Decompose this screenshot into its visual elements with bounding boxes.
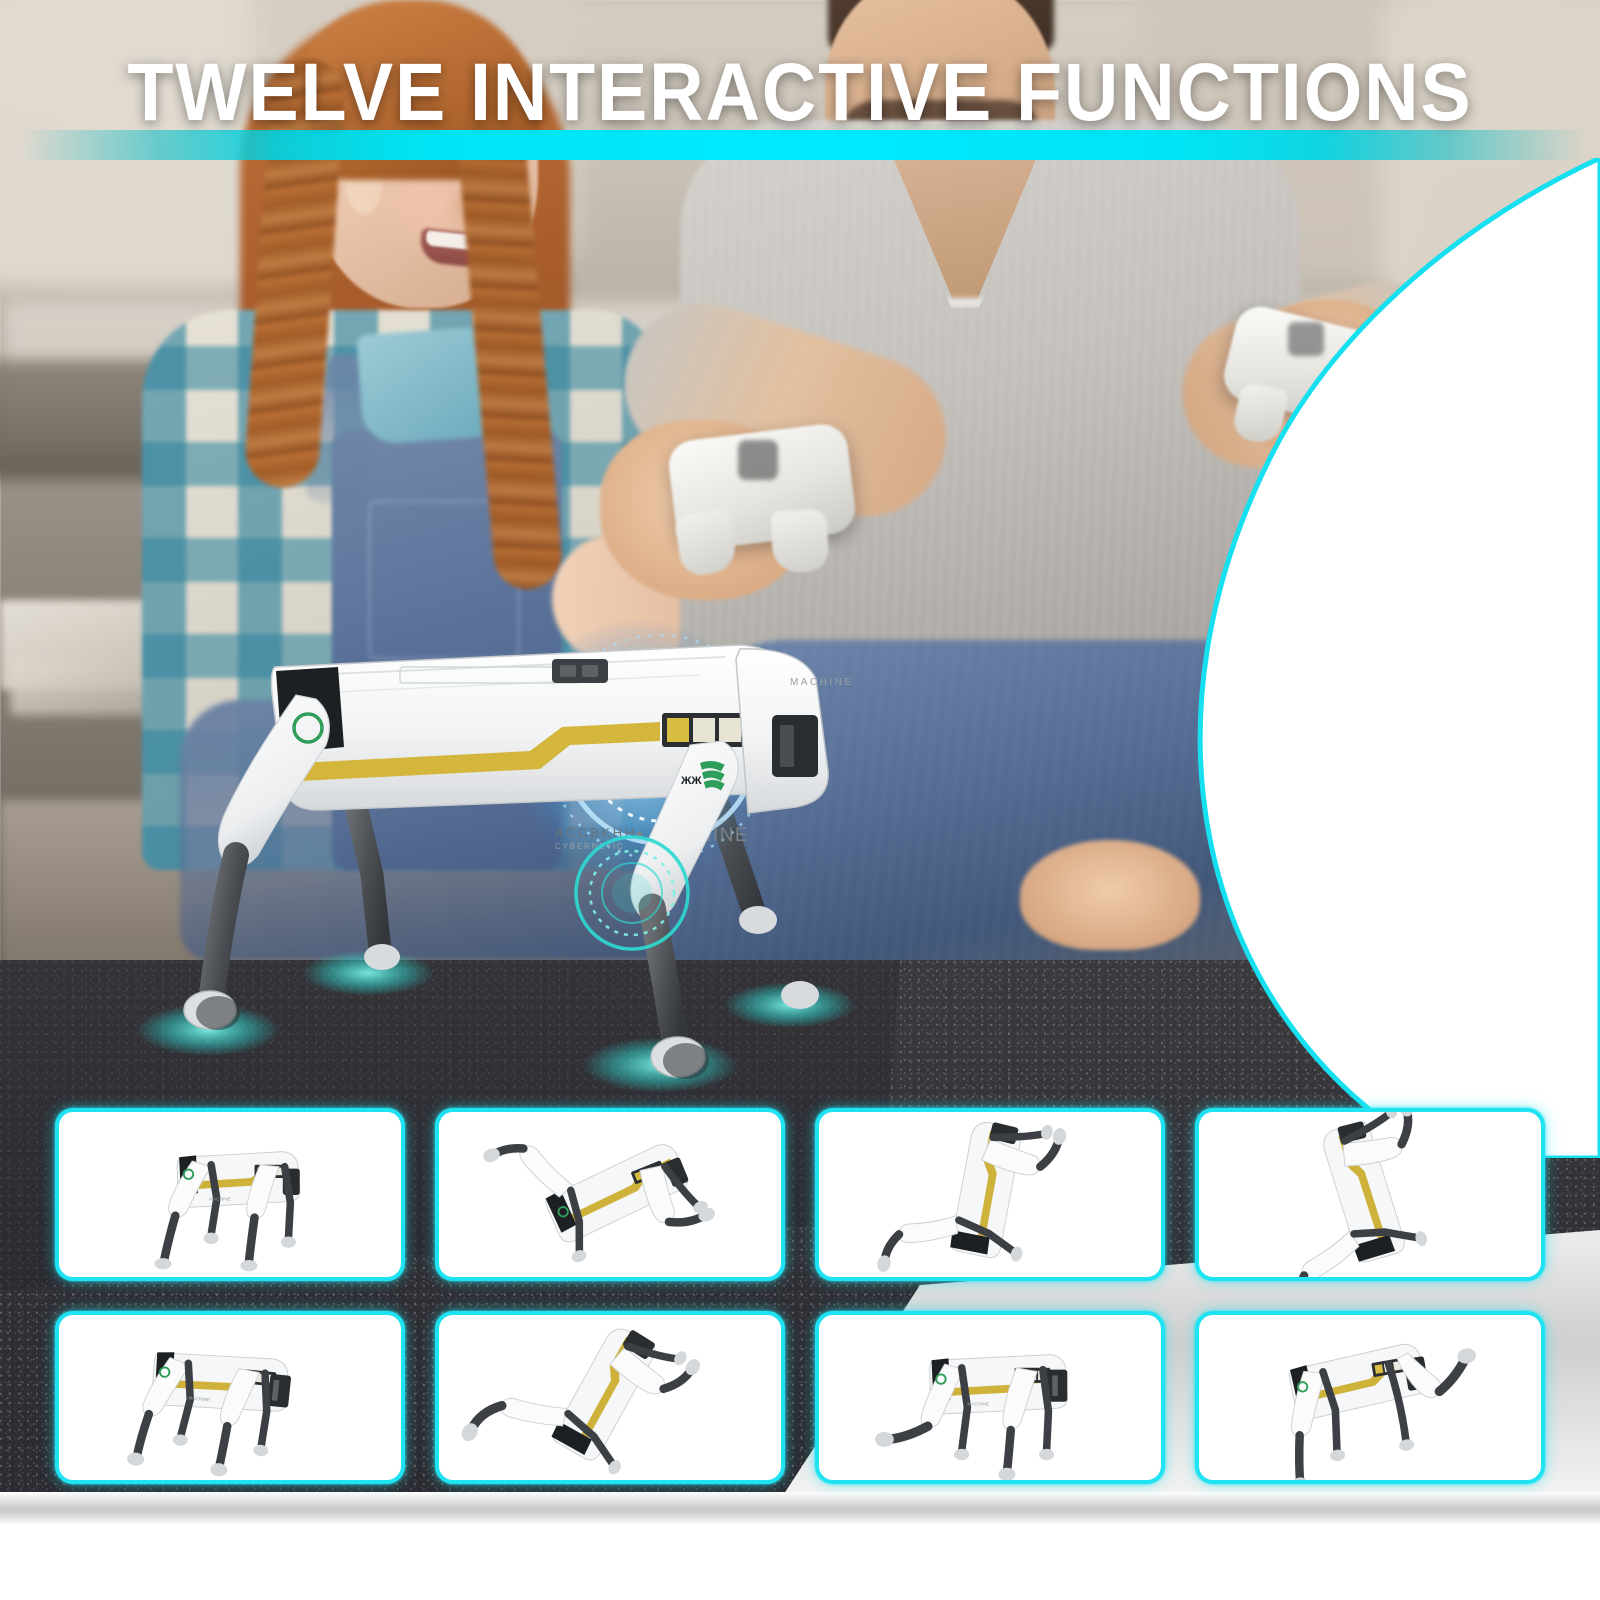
page-title: TWELVE INTERACTIVE FUNCTIONS — [64, 52, 1536, 134]
robot-dog-hero: ACCBKHH CYBERNETIC • MACHINE MACHINE — [100, 575, 900, 1135]
robot-paw — [739, 906, 777, 934]
robot-mini: MACHINE — [875, 1355, 1067, 1480]
robot-rear-text: MACHINE — [790, 677, 854, 688]
robot-rear-unit: MACHINE — [736, 649, 854, 813]
svg-text:MACHINE: MACHINE — [209, 1197, 231, 1202]
thumbnail-pose-crouch[interactable]: MACHINE — [815, 1311, 1165, 1484]
function-thumbnail-grid: MACHINE — [55, 1108, 1545, 1484]
robot-mini — [481, 1112, 717, 1277]
thumbnail-pose-stretch[interactable] — [435, 1108, 785, 1281]
robot-rear-port — [772, 715, 818, 777]
controller-button-area — [738, 440, 778, 480]
thumbnail-pose-walk[interactable]: MACHINE — [55, 1311, 405, 1484]
thumbnail-pose-sit-up[interactable] — [815, 1108, 1165, 1281]
robot-paw — [364, 944, 400, 970]
white-curve-decoration — [1080, 158, 1600, 1158]
svg-text:MACHINE: MACHINE — [967, 1402, 989, 1407]
svg-text:ЖЖ: ЖЖ — [680, 775, 702, 787]
robot-mini — [458, 1315, 703, 1480]
robot-mini: MACHINE — [155, 1152, 300, 1272]
robot-paw — [781, 981, 819, 1009]
robot-mini — [1251, 1112, 1456, 1277]
robot-mini — [875, 1112, 1067, 1277]
product-marketing-banner: ACCBKHH CYBERNETIC • MACHINE MACHINE — [0, 0, 1600, 1600]
robot-brand-subtext: CYBERNETIC — [555, 842, 625, 851]
robot-mini: MACHINE — [126, 1345, 293, 1480]
thumbnail-pose-greet[interactable] — [1195, 1311, 1545, 1484]
thumbnail-pose-wave[interactable] — [435, 1311, 785, 1484]
controller-grip — [770, 509, 829, 574]
bottom-gradient-band — [0, 1492, 1600, 1526]
swoosh-shape — [1200, 158, 1600, 1158]
bottom-white-area — [0, 1524, 1600, 1600]
thumbnail-pose-handstand[interactable] — [1195, 1108, 1545, 1281]
robot-mini — [1270, 1332, 1493, 1480]
thumbnail-pose-stand[interactable]: MACHINE — [55, 1108, 405, 1281]
robot-indicator-block — [662, 713, 746, 747]
